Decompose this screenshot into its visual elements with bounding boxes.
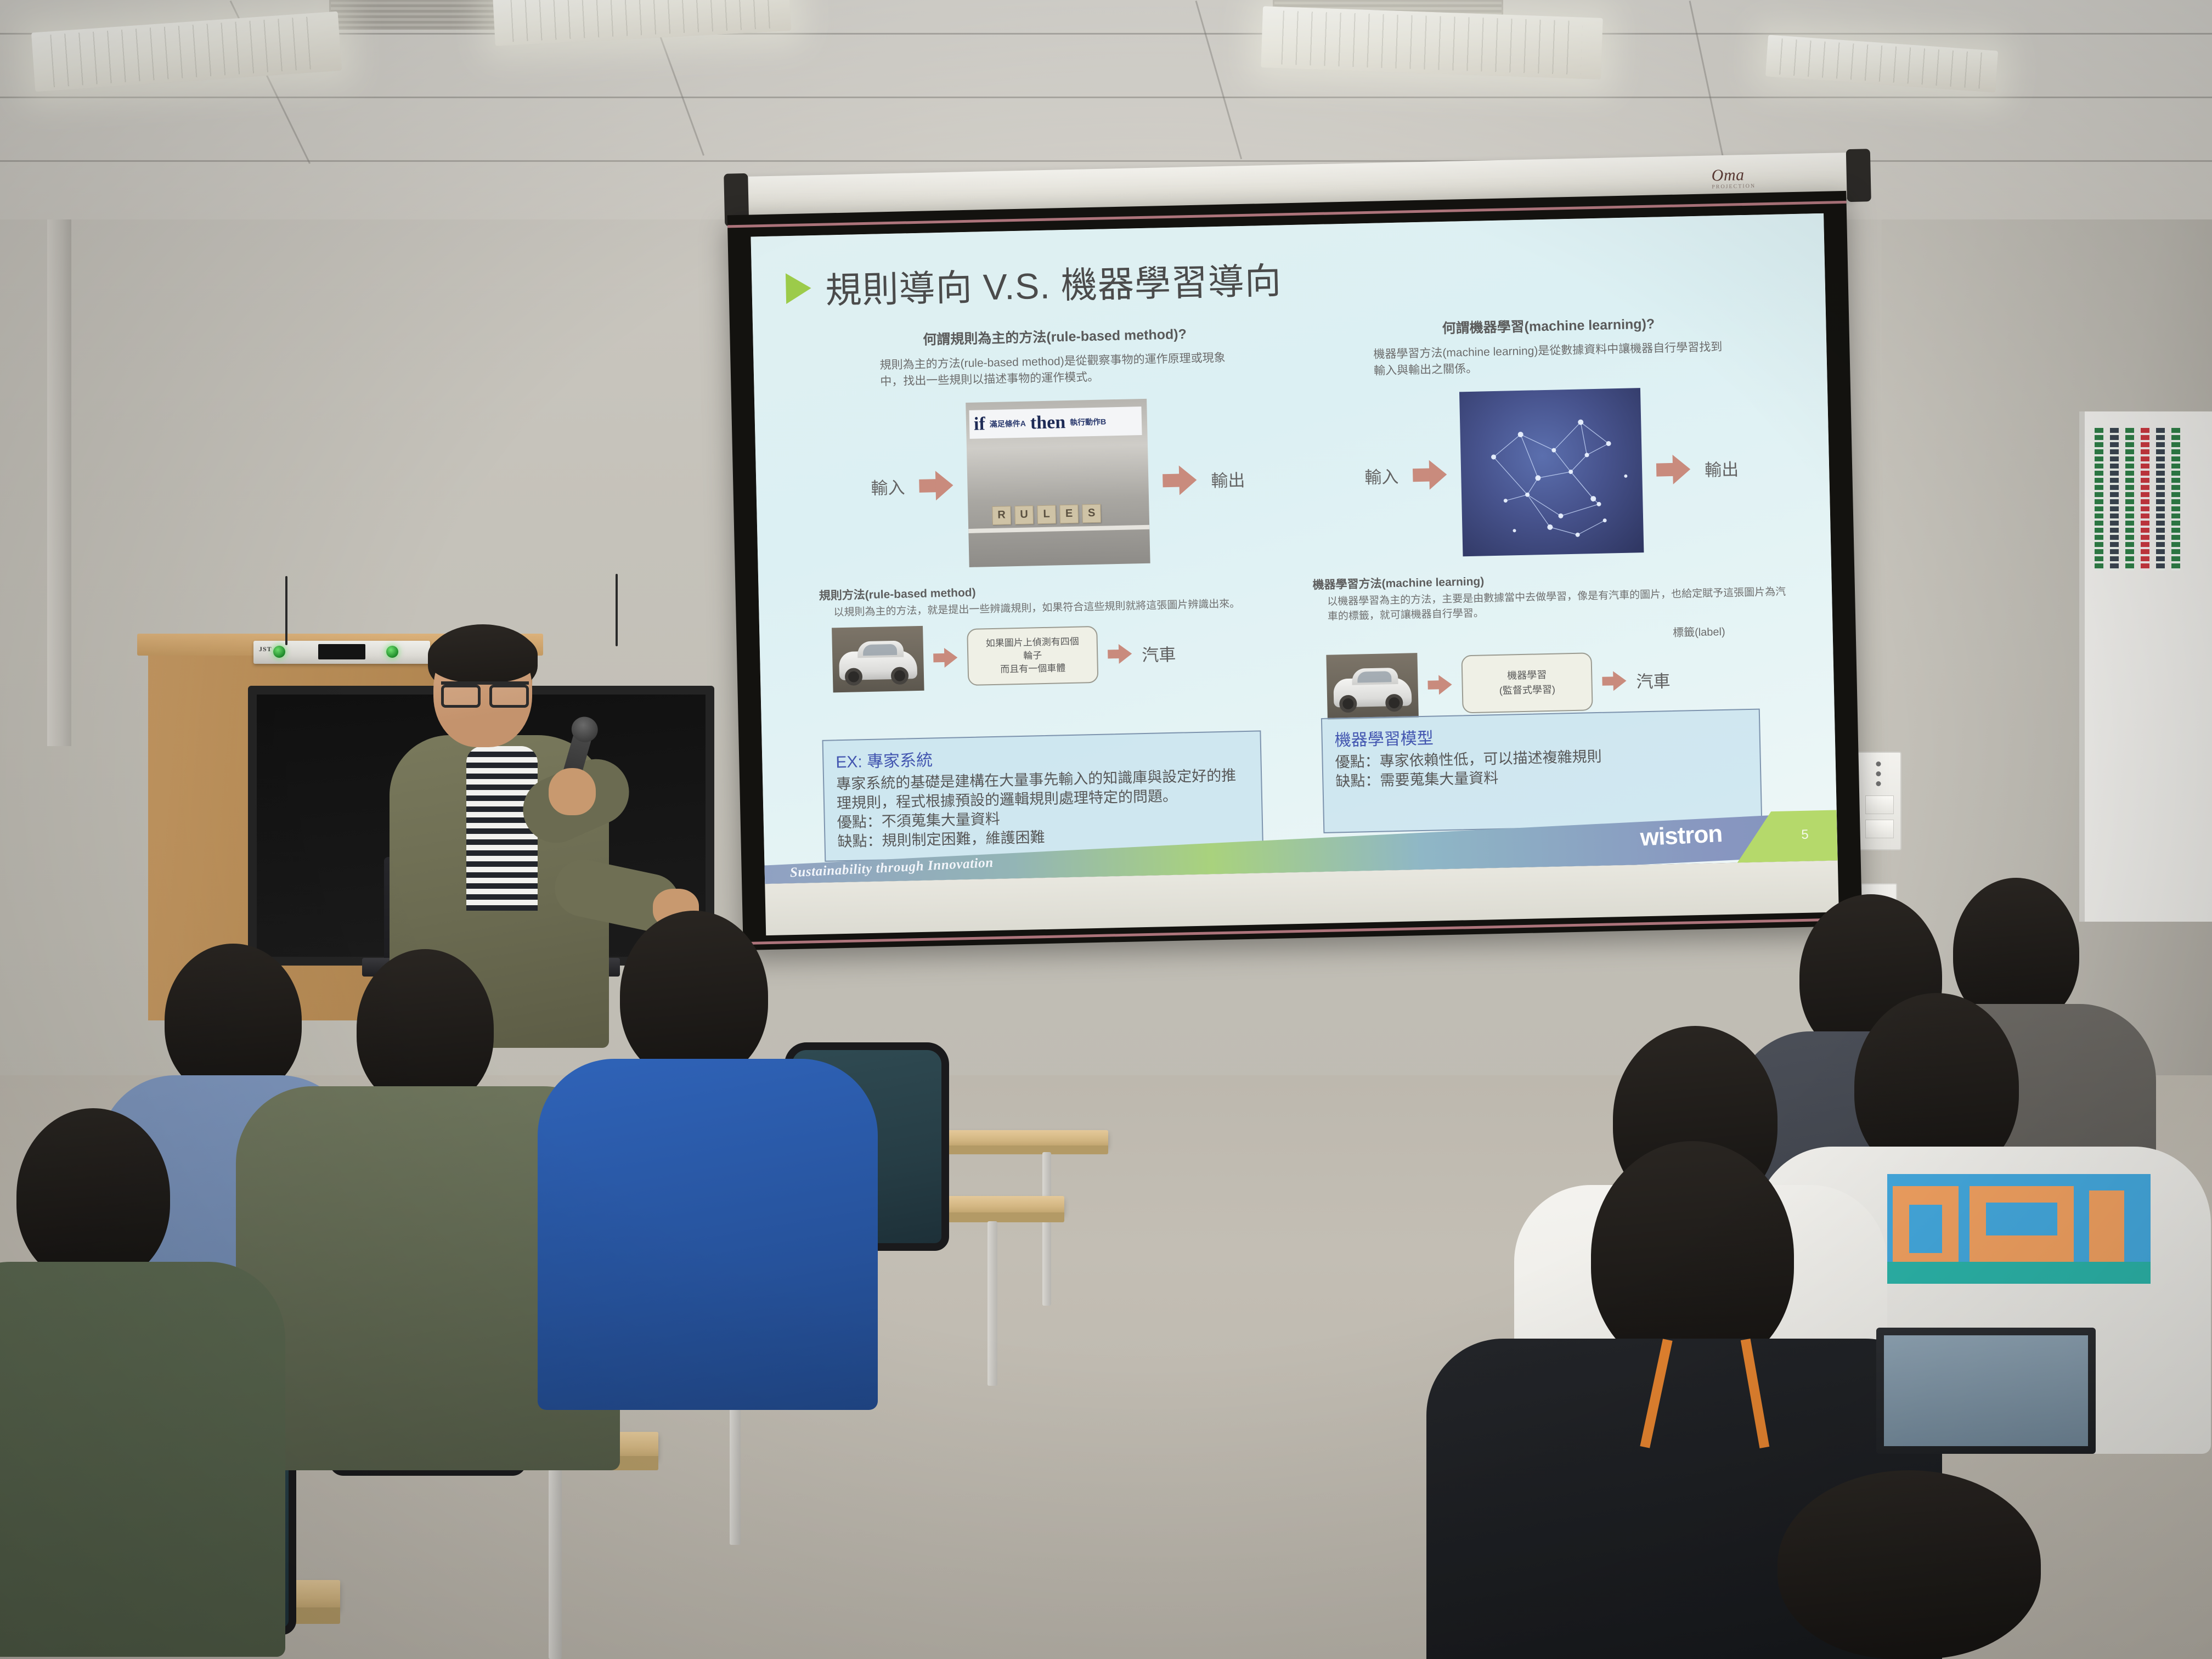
slide-title: 規則導向 V.S. 機器學習導向 <box>825 251 1282 314</box>
receiver-knob[interactable] <box>273 646 285 658</box>
audience-member-head <box>165 944 302 1097</box>
neural-network-graphic <box>1459 388 1644 556</box>
tshirt-graphic-print <box>1887 1174 2151 1284</box>
right-arrow-icon <box>1413 460 1447 490</box>
then-keyword: then <box>1030 412 1066 433</box>
letter-tile: U <box>1014 505 1034 524</box>
letter-tile: L <box>1037 505 1056 524</box>
audience-member-head <box>620 911 768 1081</box>
presenter-hair-front <box>428 628 538 682</box>
car-photo <box>1326 653 1419 720</box>
right-arrow-icon <box>1108 644 1132 664</box>
left-question-heading: 何謂規則為主的方法(rule-based method)? <box>813 321 1296 351</box>
light-switch-panel[interactable] <box>1855 752 1901 850</box>
whiteboard-magnet-strip <box>2156 428 2165 571</box>
presenter-shirt <box>466 746 538 911</box>
glasses-icon <box>441 681 529 700</box>
letter-tile: R <box>992 506 1011 525</box>
classroom-scene: Oma PROJECTION 規則導向 V.S. 機器學習導向 <box>0 0 2212 1659</box>
ceiling-light-panel-3 <box>1261 6 1603 80</box>
slide-page-number: 5 <box>1801 827 1809 843</box>
wistron-logo: wistron <box>1639 820 1723 851</box>
audience-laptop[interactable] <box>1876 1328 2096 1454</box>
letter-tile: E <box>1059 504 1079 523</box>
green-triangle-icon <box>786 273 811 304</box>
whiteboard-magnet-strip <box>2141 428 2149 571</box>
audience-member-body <box>538 1059 878 1410</box>
projection-screen-frame: 規則導向 V.S. 機器學習導向 何謂規則為主的方法(rule-based me… <box>727 191 1863 950</box>
right-example-output: 汽車 <box>1636 667 1671 692</box>
presentation-slide: 規則導向 V.S. 機器學習導向 何謂規則為主的方法(rule-based me… <box>751 213 1837 884</box>
whiteboard-magnet-strip <box>2171 428 2180 571</box>
audience-member-head <box>16 1108 170 1284</box>
left-flow-row: 輸入 if 滿足條件A then 執行動作B <box>815 395 1301 570</box>
audience-member-body <box>0 1262 285 1657</box>
right-arrow-icon <box>933 648 958 668</box>
ml-box-line-2: (監督式學習) <box>1472 681 1583 698</box>
right-example-flow: 機器學習 (監督式學習) 汽車 <box>1314 645 1798 720</box>
neural-network-photo <box>1459 388 1644 556</box>
rule-line-1: 如果圖片上偵測有四個 <box>977 635 1088 651</box>
left-output-label: 輸出 <box>1211 466 1245 492</box>
rule-line-3: 而且有一個車體 <box>978 661 1088 676</box>
whiteboard <box>2079 411 2212 922</box>
audience-member-head <box>357 949 494 1108</box>
right-arrow-icon <box>1656 454 1691 484</box>
label-annotation: 標籤(label) <box>1313 621 1796 647</box>
receiver-brand-label: JST <box>259 645 272 653</box>
whiteboard-magnet-strip <box>2110 428 2119 571</box>
right-question-heading: 何謂機器學習(machine learning)? <box>1307 310 1790 340</box>
if-then-banner: if 滿足條件A then 執行動作B <box>969 407 1142 439</box>
right-output-label: 輸出 <box>1705 455 1739 481</box>
rules-letter-tiles: R U L E S <box>992 504 1101 524</box>
right-column: 何謂機器學習(machine learning)? 機器學習方法(machine… <box>1307 310 1798 720</box>
condition-a-label: 滿足條件A <box>990 417 1026 429</box>
whiteboard-magnet-strip <box>2125 428 2134 571</box>
machine-learning-box: 機器學習 (監督式學習) <box>1461 652 1593 713</box>
receiver-display <box>318 644 365 659</box>
screen-brand-name: Oma <box>1711 166 1745 184</box>
left-question-body: 規則為主的方法(rule-based method)是從觀察事物的運作原理或現象… <box>879 349 1231 390</box>
action-b-label: 執行動作B <box>1070 416 1107 427</box>
light-switch-rocker[interactable] <box>1865 820 1894 838</box>
projection-screen-surface: 規則導向 V.S. 機器學習導向 何謂規則為主的方法(rule-based me… <box>751 213 1837 884</box>
rules-photo: if 滿足條件A then 執行動作B R U L <box>966 398 1150 567</box>
letter-tile: S <box>1082 504 1101 523</box>
right-flow-row: 輸入 <box>1308 385 1795 560</box>
screen-brand-subtitle: PROJECTION <box>1712 183 1756 190</box>
whiteboard-magnet-strip <box>2095 428 2103 571</box>
car-photo <box>832 626 924 693</box>
left-input-label: 輸入 <box>871 474 905 499</box>
right-question-body: 機器學習方法(machine learning)是從數據資料中讓機器自行學習找到… <box>1373 339 1725 380</box>
if-keyword: if <box>974 414 986 435</box>
right-input-label: 輸入 <box>1364 463 1399 488</box>
antenna-icon <box>285 576 287 645</box>
light-switch-rocker[interactable] <box>1865 795 1894 814</box>
presenter-hand <box>549 768 596 815</box>
left-example-output: 汽車 <box>1142 640 1176 665</box>
left-column: 何謂規則為主的方法(rule-based method)? 規則為主的方法(ru… <box>813 321 1304 693</box>
left-example-flow: 如果圖片上偵測有四個 輪子 而且有一個車體 汽車 <box>820 618 1304 693</box>
projector-screen-unit: Oma PROJECTION 規則導向 V.S. 機器學習導向 <box>730 165 1860 988</box>
audience-member-head <box>1591 1141 1794 1372</box>
right-arrow-icon <box>1427 675 1452 695</box>
audience-member-head <box>1778 1470 2041 1659</box>
right-arrow-icon <box>1163 465 1197 495</box>
rule-condition-box: 如果圖片上偵測有四個 輪子 而且有一個車體 <box>967 626 1098 686</box>
screen-case-end-right <box>1846 149 1871 202</box>
screen-brand-logo: Oma PROJECTION <box>1711 166 1756 190</box>
right-arrow-icon <box>919 470 953 500</box>
lanyard <box>1651 1339 1783 1454</box>
right-arrow-icon <box>1602 671 1627 691</box>
slide-title-row: 規則導向 V.S. 機器學習導向 <box>786 251 1282 315</box>
